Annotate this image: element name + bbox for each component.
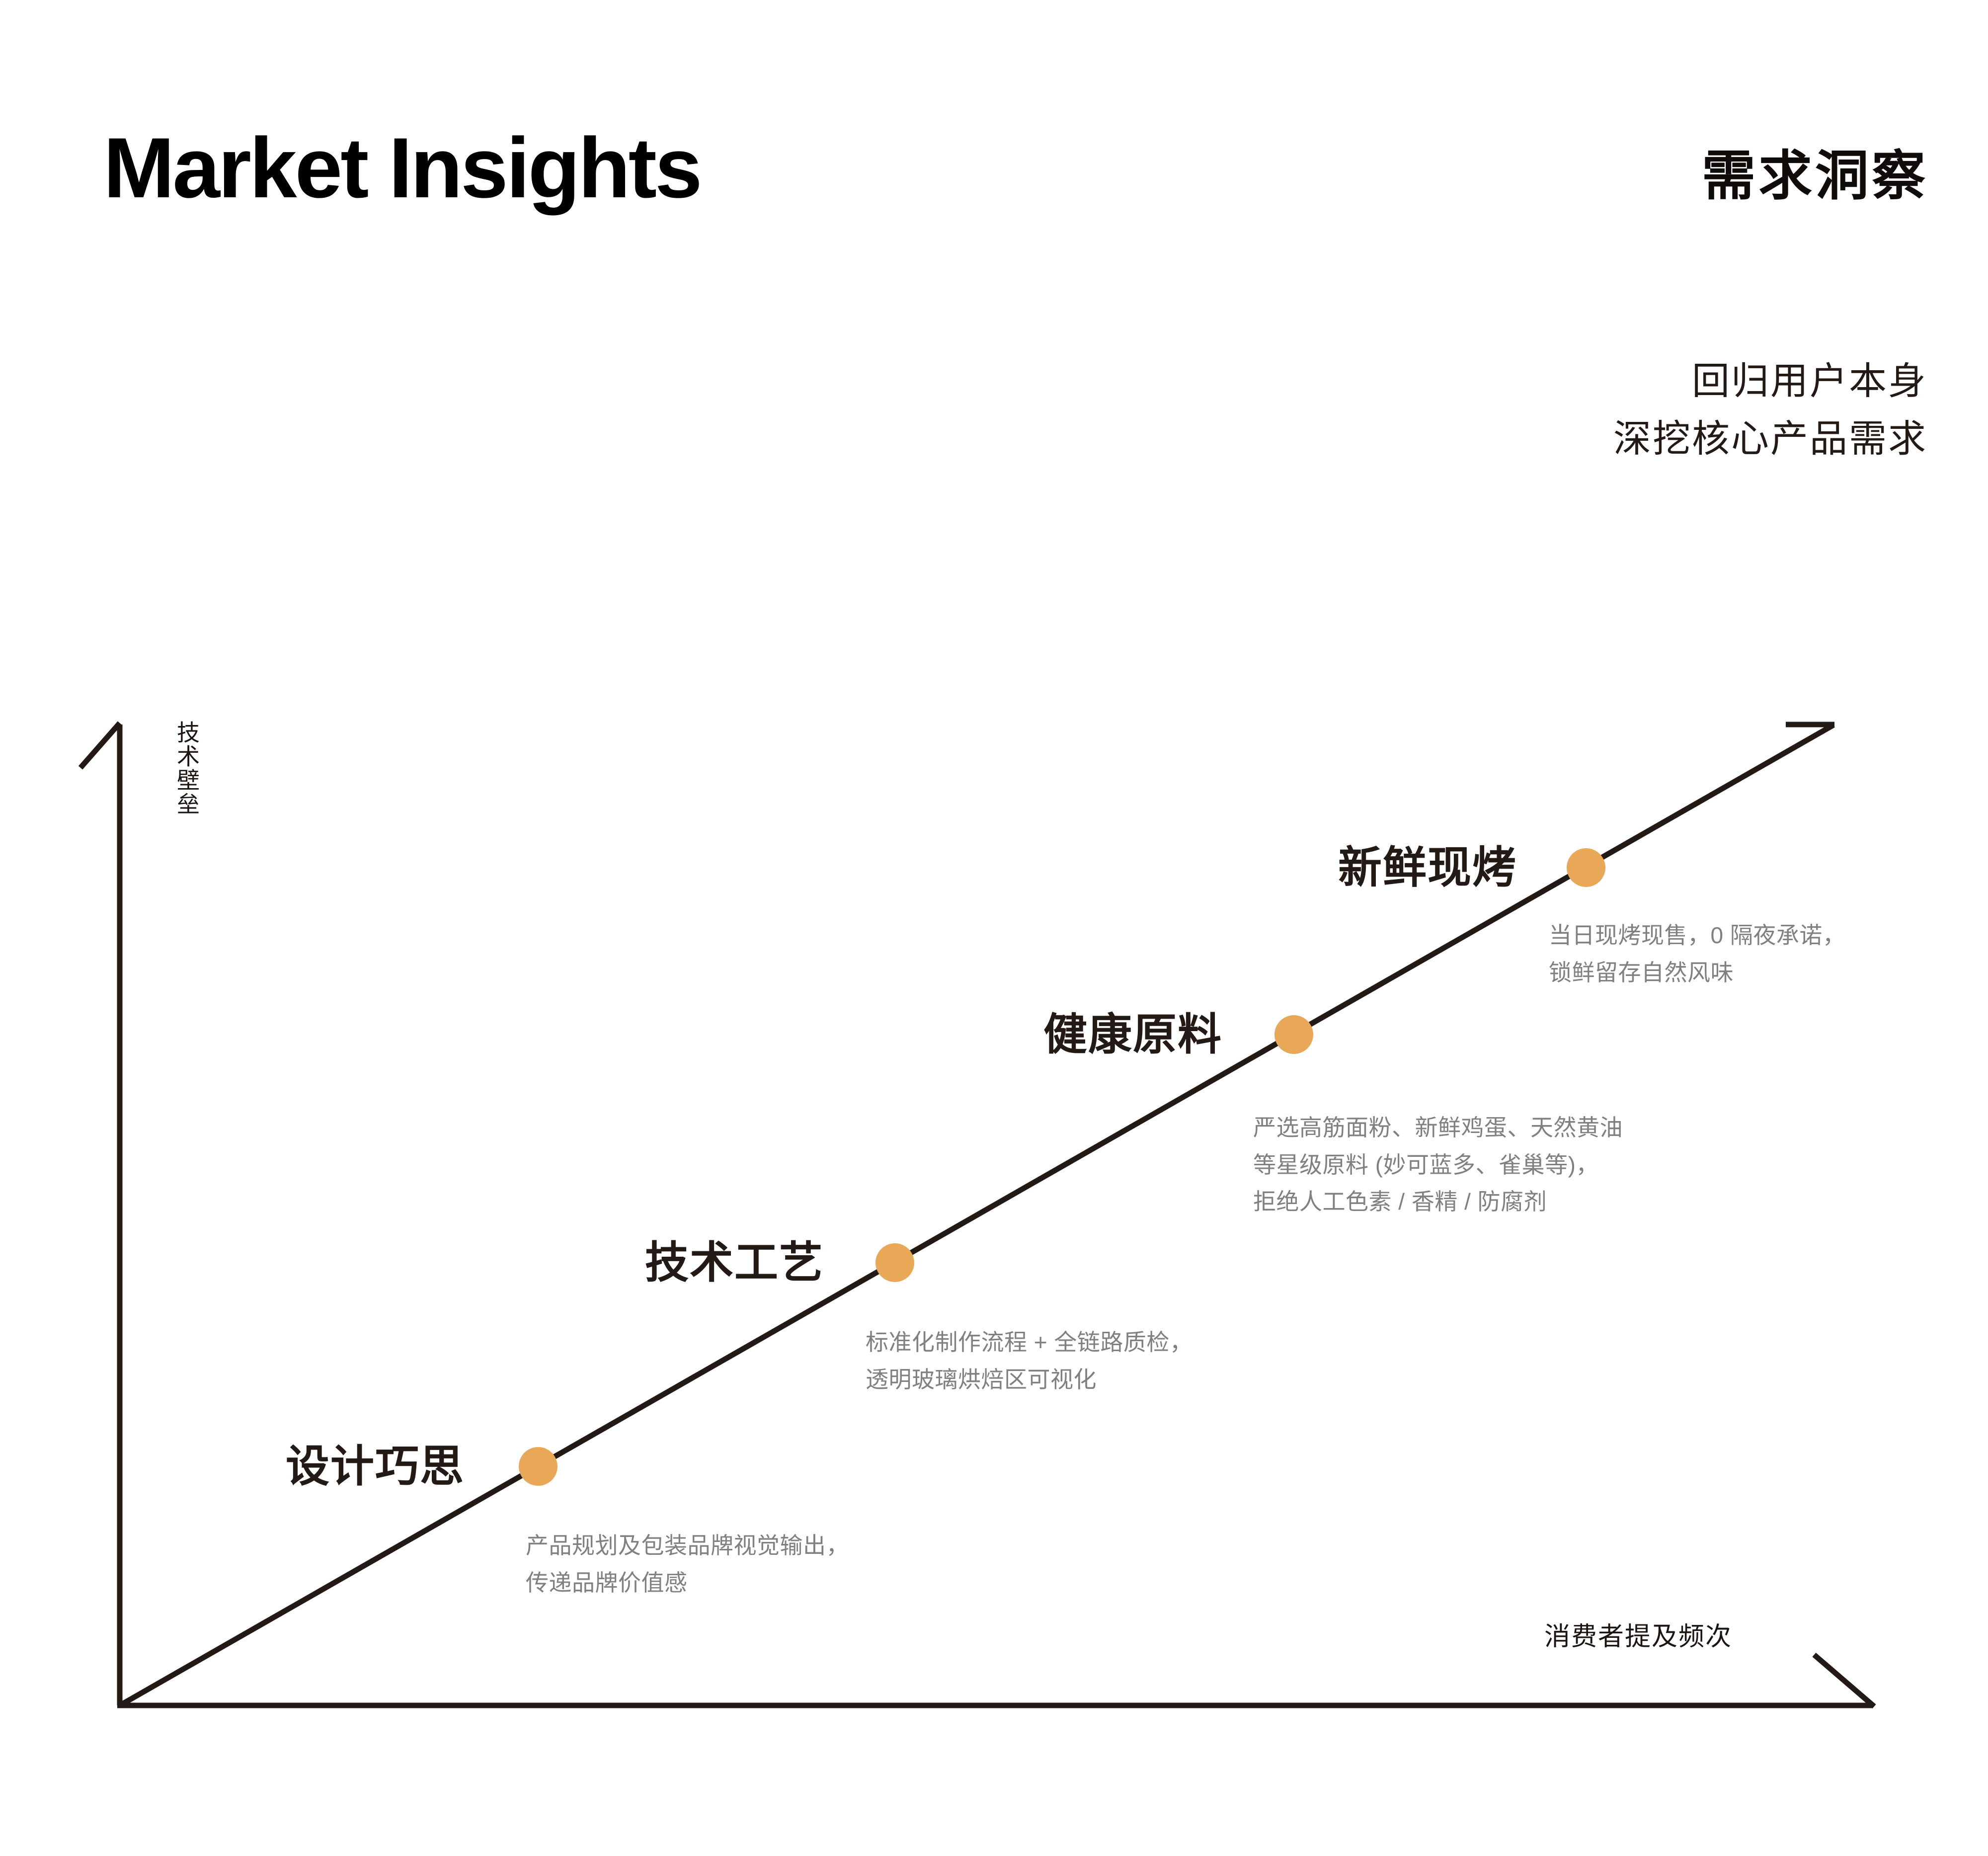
data-point-label-3: 健康原料	[1043, 1013, 1222, 1056]
description-line: 产品规划及包装品牌视觉输出，	[526, 1527, 849, 1564]
x-axis-label: 消费者提及频次	[1544, 1615, 1732, 1653]
y-axis-arrow-icon	[80, 723, 120, 768]
data-point-label-1: 设计巧思	[286, 1445, 465, 1488]
x-axis-arrow-icon	[1814, 1655, 1874, 1706]
description-line: 等星级原料 (妙可蓝多、雀巢等)，	[1253, 1146, 1623, 1184]
description-line: 锁鲜留存自然风味	[1549, 954, 1845, 991]
data-point-description-1: 产品规划及包装品牌视觉输出， 传递品牌价值感	[526, 1527, 849, 1601]
description-line: 当日现烤现售，0 隔夜承诺，	[1549, 917, 1845, 954]
description-line: 拒绝人工色素 / 香精 / 防腐剂	[1253, 1183, 1623, 1220]
description-line: 标准化制作流程 + 全链路质检，	[866, 1324, 1193, 1361]
data-point-marker	[1567, 848, 1605, 887]
data-point-marker	[1274, 1015, 1313, 1054]
data-point-label-2: 技术工艺	[645, 1241, 824, 1285]
slide-canvas: Market Insights 需求洞察 回归用户本身 深挖核心产品需求	[0, 0, 1988, 1856]
insights-chart: 技术壁垒 消费者提及频次 设计巧思 产品规划及包装品牌视觉输出， 传递品牌价值感…	[0, 0, 1988, 1856]
description-line: 严选高筋面粉、新鲜鸡蛋、天然黄油	[1253, 1109, 1623, 1146]
description-line: 透明玻璃烘焙区可视化	[866, 1361, 1193, 1398]
data-point-label-4: 新鲜现烤	[1338, 846, 1517, 889]
data-point-marker	[875, 1243, 914, 1282]
data-point-marker	[519, 1447, 557, 1486]
data-point-description-4: 当日现烤现售，0 隔夜承诺， 锁鲜留存自然风味	[1549, 917, 1845, 991]
y-axis-label: 技术壁垒	[158, 721, 201, 816]
data-point-description-2: 标准化制作流程 + 全链路质检， 透明玻璃烘焙区可视化	[866, 1324, 1193, 1398]
data-point-description-3: 严选高筋面粉、新鲜鸡蛋、天然黄油 等星级原料 (妙可蓝多、雀巢等)， 拒绝人工色…	[1253, 1109, 1623, 1220]
description-line: 传递品牌价值感	[526, 1564, 849, 1602]
